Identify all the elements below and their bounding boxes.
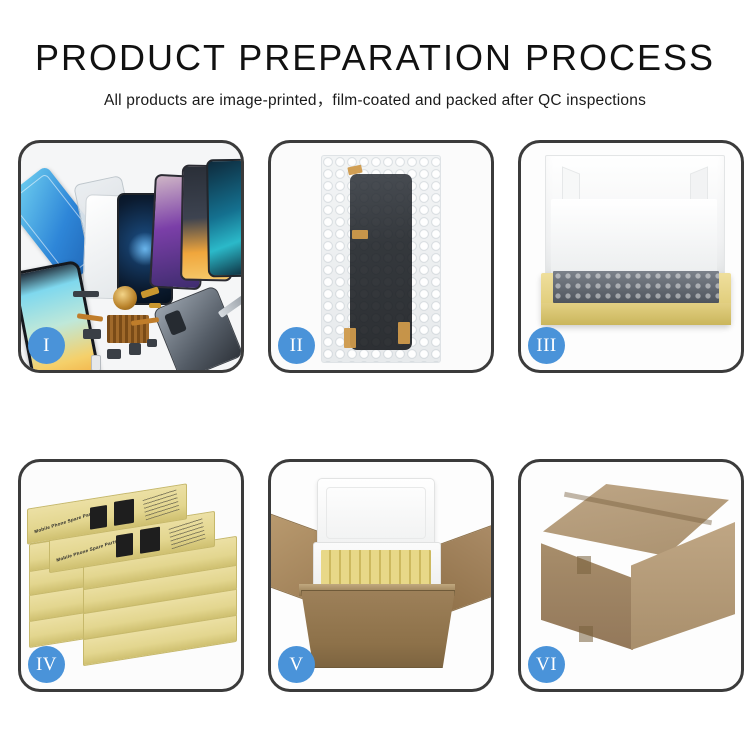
tape-strip-icon xyxy=(352,230,368,239)
chip-part-icon xyxy=(73,291,99,297)
carton-body-icon xyxy=(301,590,455,668)
phone-teal-icon xyxy=(206,159,241,278)
speaker-part-icon xyxy=(113,286,137,310)
sim-tray-icon xyxy=(91,355,101,370)
step-panel-2: II xyxy=(268,140,494,373)
connector-part-icon xyxy=(149,303,161,308)
step-panel-1: I xyxy=(18,140,244,373)
step-panel-5: V xyxy=(268,459,494,692)
step-panel-6: VI xyxy=(518,459,744,692)
carton-tape-icon xyxy=(579,626,593,642)
step-badge-2: II xyxy=(278,327,315,364)
box-label-text: Mobile Phone Spare Parts xyxy=(56,539,118,563)
carton-tape-icon xyxy=(577,556,591,574)
box-label-text: Mobile Phone Spare Parts xyxy=(34,510,96,534)
tape-strip-icon xyxy=(344,328,356,348)
step-badge-3: III xyxy=(528,327,565,364)
chip-part-icon xyxy=(83,329,101,339)
step-badge-6: VI xyxy=(528,646,565,683)
chip-part-icon xyxy=(107,349,121,359)
phone-print-icon xyxy=(114,499,134,526)
step-panel-4: Mobile Phone Spare Parts Mobile Phone Sp… xyxy=(18,459,244,692)
step-badge-5: V xyxy=(278,646,315,683)
chip-part-icon xyxy=(147,339,157,347)
tray-front-panel-icon xyxy=(541,303,731,325)
bubble-wrapped-contents-icon xyxy=(553,271,719,303)
phone-print-icon xyxy=(90,505,107,530)
step-panel-3: III xyxy=(518,140,744,373)
tape-strip-icon xyxy=(398,322,410,344)
header: PRODUCT PREPARATION PROCESS All products… xyxy=(0,0,750,110)
foam-sheet-icon xyxy=(551,199,717,275)
phone-print-icon xyxy=(116,533,133,558)
box-spec-lines xyxy=(142,489,179,521)
page-title: PRODUCT PREPARATION PROCESS xyxy=(0,38,750,78)
foam-lid-icon xyxy=(317,478,435,550)
product-preparation-infographic: PRODUCT PREPARATION PROCESS All products… xyxy=(0,0,750,750)
process-steps-grid: I II xyxy=(18,140,734,692)
bubble-wrap-bag-icon xyxy=(321,155,441,363)
page-subtitle: All products are image-printed，film-coat… xyxy=(0,88,750,110)
phone-print-icon xyxy=(140,527,160,554)
box-spec-lines xyxy=(168,517,205,549)
chip-part-icon xyxy=(129,343,141,355)
step-badge-1: I xyxy=(28,327,65,364)
step-badge-4: IV xyxy=(28,646,65,683)
